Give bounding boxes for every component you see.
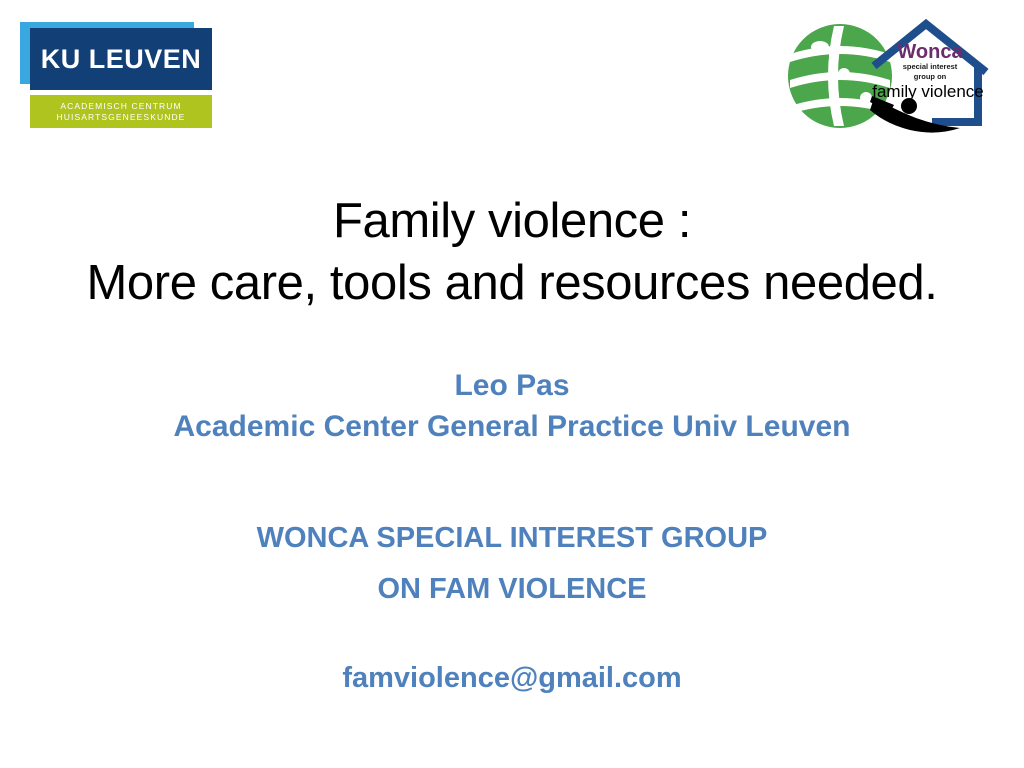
ku-leuven-green-band: ACADEMISCH CENTRUM HUISARTSGENEESKUNDE — [30, 95, 212, 128]
author-affiliation: Academic Center General Practice Univ Le… — [0, 406, 1024, 448]
wonca-brand-text: Wonca — [897, 41, 963, 63]
ku-leuven-department-line2: HUISARTSGENEESKUNDE — [57, 112, 186, 123]
special-interest-group-block: WONCA SPECIAL INTEREST GROUP ON FAM VIOL… — [0, 513, 1024, 615]
wonca-tagline-line1: special interest — [903, 62, 958, 71]
contact-email[interactable]: famviolence@gmail.com — [0, 658, 1024, 698]
ku-leuven-department-line1: ACADEMISCH CENTRUM — [60, 101, 181, 112]
slide-title-line1: Family violence : — [0, 190, 1024, 252]
ku-leuven-wordmark: KU LEUVEN — [30, 28, 212, 90]
wonca-family-violence-logo: Wonca special interest group on family v… — [778, 14, 1010, 138]
slide-title: Family violence : More care, tools and r… — [0, 190, 1024, 314]
wonca-tagline-line2: group on — [914, 72, 947, 81]
ku-leuven-logo: KU LEUVEN ACADEMISCH CENTRUM HUISARTSGEN… — [20, 22, 212, 122]
author-name: Leo Pas — [0, 366, 1024, 406]
ku-leuven-navy-box: KU LEUVEN — [30, 28, 212, 90]
person-figure-icon — [870, 96, 960, 133]
special-interest-group-line1: WONCA SPECIAL INTEREST GROUP — [0, 513, 1024, 564]
title-slide: KU LEUVEN ACADEMISCH CENTRUM HUISARTSGEN… — [0, 0, 1024, 768]
author-block: Leo Pas Academic Center General Practice… — [0, 366, 1024, 448]
slide-title-line2: More care, tools and resources needed. — [0, 252, 1024, 314]
wonca-tagline-line3: family violence — [872, 82, 984, 101]
special-interest-group-line2: ON FAM VIOLENCE — [0, 564, 1024, 615]
ku-leuven-department-label: ACADEMISCH CENTRUM HUISARTSGENEESKUNDE — [30, 95, 212, 128]
